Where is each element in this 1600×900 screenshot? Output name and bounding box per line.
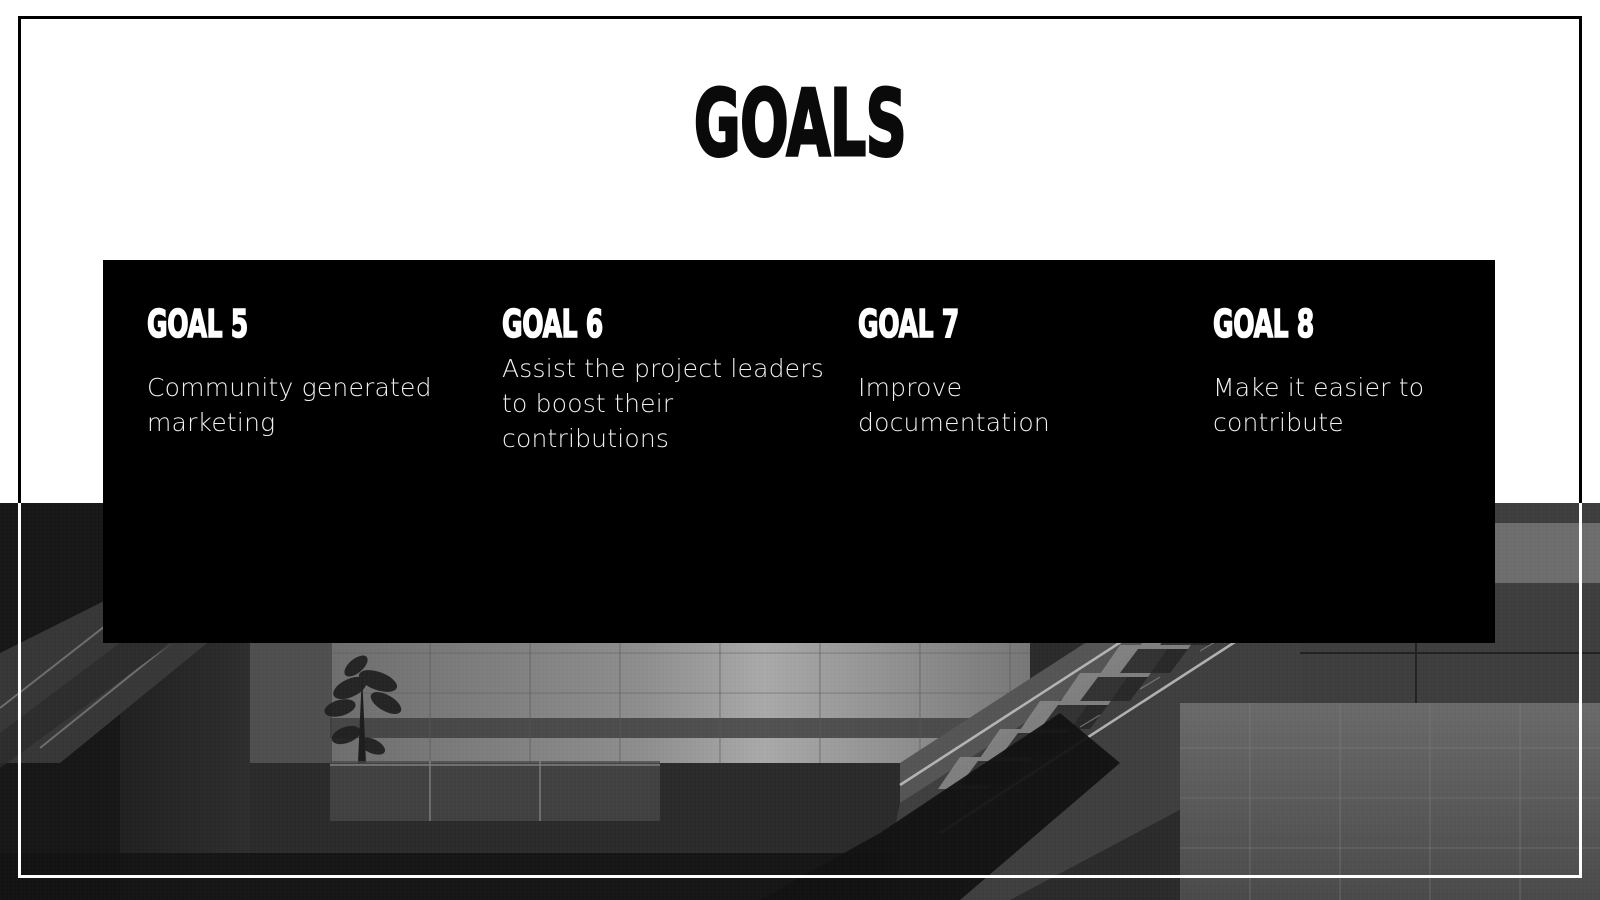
goal-body: Community generated marketing bbox=[147, 370, 477, 440]
goal-column-6: GOAL 6 Assist the project leaders to boo… bbox=[502, 305, 832, 456]
frame-border-right-lower bbox=[1579, 503, 1582, 878]
goal-column-5: GOAL 5 Community generated marketing bbox=[147, 305, 477, 440]
goals-panel: GOAL 5 Community generated marketing GOA… bbox=[103, 260, 1495, 643]
frame-border-top bbox=[18, 16, 1582, 19]
page-title: GOALS bbox=[304, 78, 1296, 170]
goal-body: Assist the project leaders to boost thei… bbox=[502, 351, 832, 456]
goal-heading: GOAL 7 bbox=[858, 305, 1056, 343]
goal-body: Improve documentation bbox=[858, 370, 1158, 440]
goal-column-7: GOAL 7 Improve documentation bbox=[858, 305, 1158, 440]
frame-border-left-upper bbox=[18, 16, 21, 503]
slide: GOALS GOAL 5 Community generated marketi… bbox=[0, 0, 1600, 900]
goals-grid: GOAL 5 Community generated marketing GOA… bbox=[103, 260, 1495, 643]
frame-border-left-lower bbox=[18, 503, 21, 878]
goal-heading: GOAL 5 bbox=[147, 305, 365, 343]
goal-heading: GOAL 6 bbox=[502, 305, 720, 343]
goal-column-8: GOAL 8 Make it easier to contribute bbox=[1213, 305, 1483, 440]
goal-body: Make it easier to contribute bbox=[1213, 370, 1483, 440]
frame-border-right-upper bbox=[1579, 16, 1582, 503]
goal-heading: GOAL 8 bbox=[1213, 305, 1391, 343]
frame-border-bottom bbox=[18, 875, 1582, 878]
